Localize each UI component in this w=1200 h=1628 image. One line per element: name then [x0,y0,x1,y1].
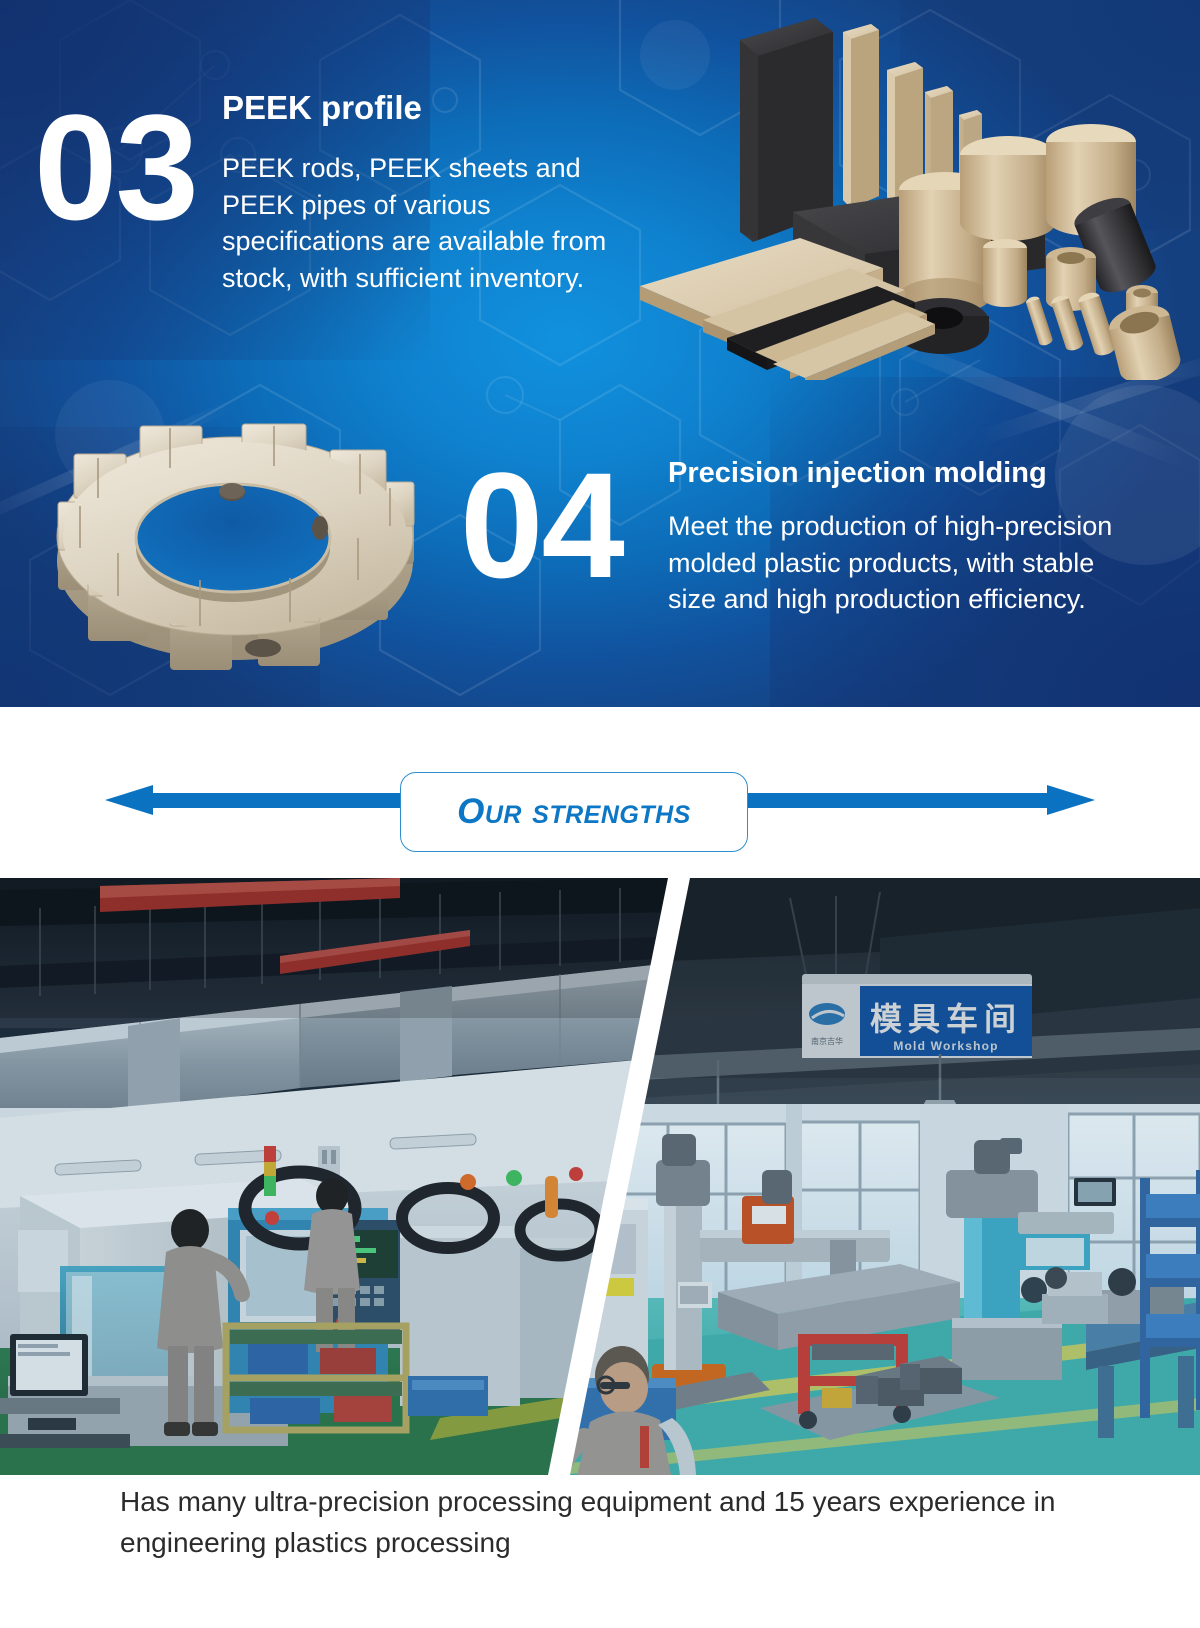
feature-body-03: PEEK rods, PEEK sheets and PEEK pipes of… [222,150,652,297]
hero-panel: 03 PEEK profile PEEK rods, PEEK sheets a… [0,0,1200,707]
factory-photos: 南京吉华 模具车间 Mold Workshop [0,878,1200,1475]
peek-gear-ring-image [30,398,450,688]
strengths-title: Our strengths [457,792,691,832]
feature-number-04: 04 [460,450,623,600]
feature-title-03: PEEK profile [222,90,422,126]
feature-number-03: 03 [34,92,197,242]
strengths-title-box: Our strengths [400,772,748,852]
peek-profile-products-image [615,0,1200,380]
feature-body-04: Meet the production of high-precision mo… [668,508,1113,618]
page-caption: Has many ultra-precision processing equi… [0,1482,1200,1563]
feature-title-04: Precision injection molding [668,458,1047,490]
arrow-right-icon [735,785,1095,816]
